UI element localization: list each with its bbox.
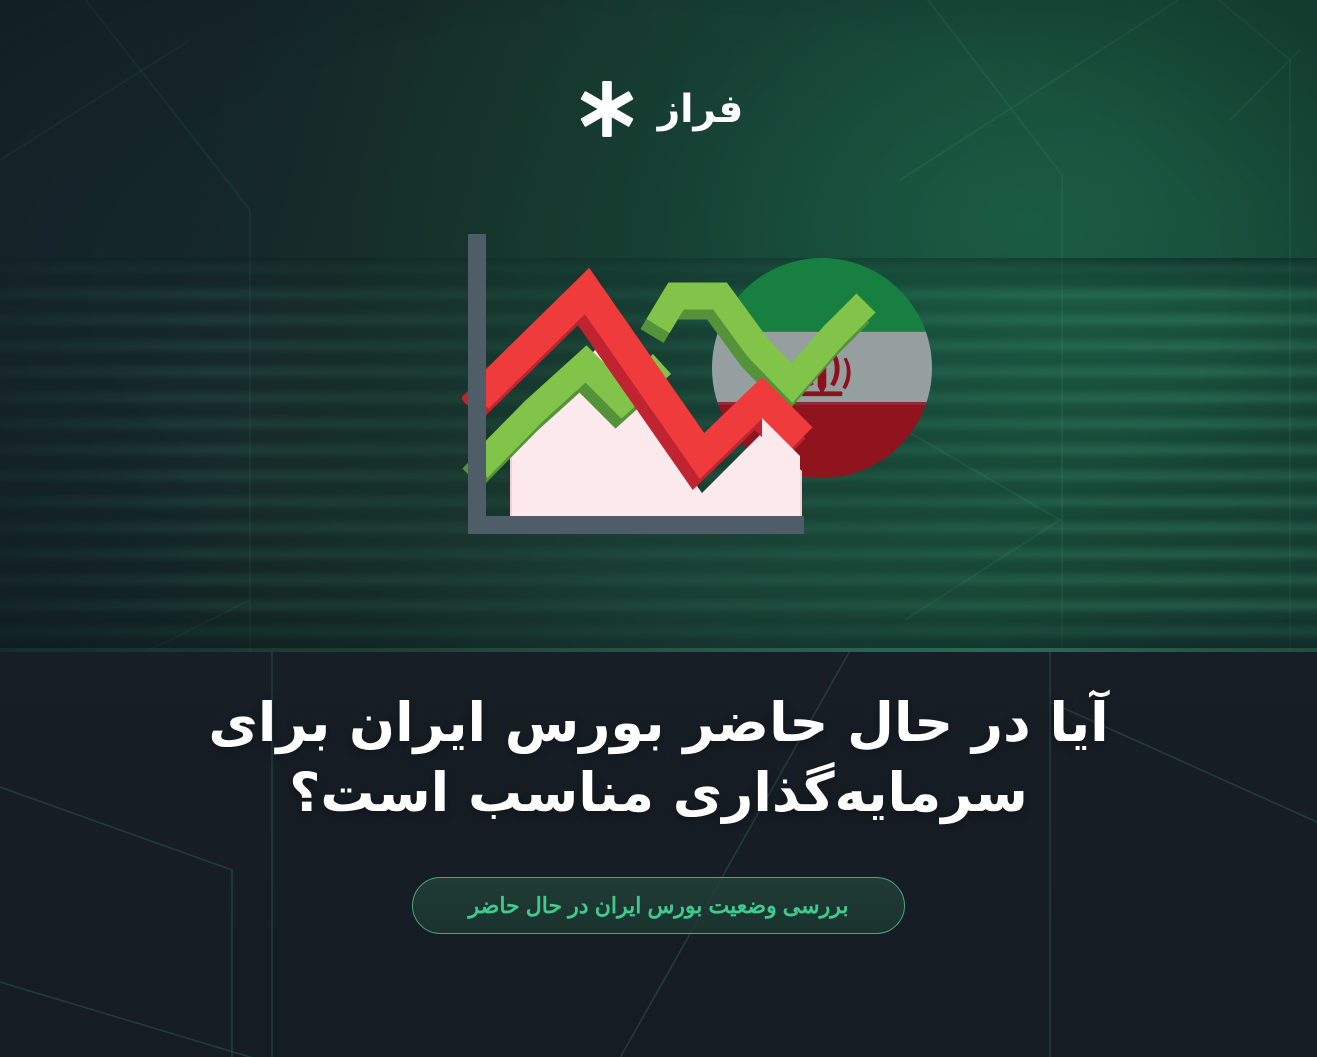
stock-chart-iran-flag-illustration (462, 228, 962, 628)
page-title: آیا در حال حاضر بورس ایران برای سرمایه‌گ… (0, 688, 1317, 828)
brand-logo[interactable]: فراز (0, 76, 1317, 142)
brand-name: فراز (658, 90, 744, 129)
check-market-status-button[interactable]: بررسی وضعیت بورس ایران در حال حاضر (412, 877, 906, 934)
hero-banner: فراز (0, 0, 1317, 1057)
cta-container: بررسی وضعیت بورس ایران در حال حاضر (0, 877, 1317, 934)
top-background: فراز (0, 0, 1317, 652)
asterisk-icon (574, 76, 640, 142)
